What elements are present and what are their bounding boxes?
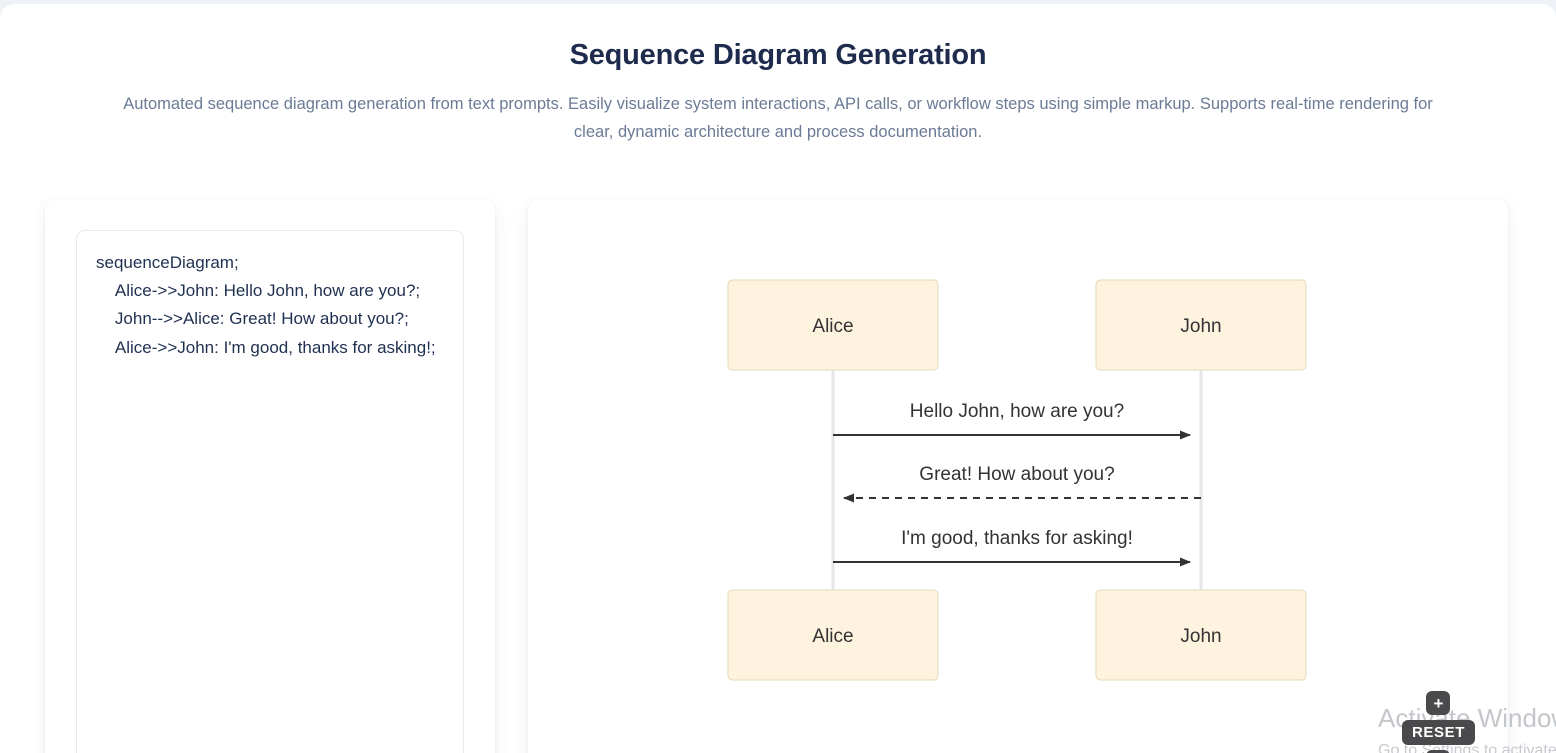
diagram-markup-input[interactable] (76, 230, 464, 753)
message-label: Hello John, how are you? (910, 401, 1124, 422)
actor-box-alice-top: Alice (728, 280, 938, 370)
message-2: Great! How about you? (844, 464, 1201, 498)
app-page: Sequence Diagram Generation Automated se… (0, 4, 1556, 753)
page-header: Sequence Diagram Generation Automated se… (0, 4, 1556, 147)
message-group: Hello John, how are you?Great! How about… (833, 401, 1201, 562)
actor-box-john-bottom: John (1096, 590, 1306, 680)
actor-label: John (1180, 316, 1221, 337)
actor-label: John (1180, 626, 1221, 647)
actor-label: Alice (812, 626, 853, 647)
actor-box-john-top: John (1096, 280, 1306, 370)
message-label: Great! How about you? (919, 464, 1114, 485)
main-columns: Hello John, how are you?Great! How about… (0, 199, 1556, 753)
page-title: Sequence Diagram Generation (0, 40, 1556, 72)
page-subtitle: Automated sequence diagram generation fr… (56, 90, 1500, 147)
message-1: Hello John, how are you? (833, 401, 1190, 435)
actor-box-alice-bottom: Alice (728, 590, 938, 680)
zoom-reset-button[interactable]: RESET (1402, 720, 1475, 745)
sequence-diagram-svg: Hello John, how are you?Great! How about… (528, 199, 1508, 753)
sequence-diagram: Hello John, how are you?Great! How about… (528, 199, 1508, 753)
diagram-preview-panel: Hello John, how are you?Great! How about… (528, 199, 1508, 753)
editor-panel (45, 199, 495, 753)
actor-label: Alice (812, 316, 853, 337)
message-3: I'm good, thanks for asking! (833, 528, 1190, 562)
message-label: I'm good, thanks for asking! (901, 528, 1133, 549)
zoom-in-button[interactable]: + (1426, 691, 1450, 715)
zoom-controls: + RESET – (1402, 691, 1475, 753)
